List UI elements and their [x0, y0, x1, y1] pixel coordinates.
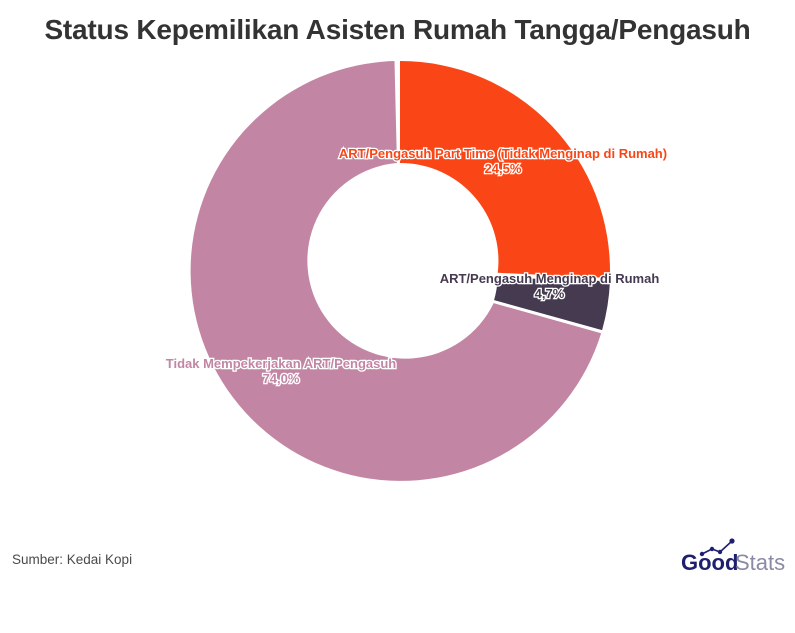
donut-slice-part-time[interactable]	[400, 61, 610, 278]
source-note: Sumber: Kedai Kopi	[12, 552, 132, 567]
goodstats-logo: Good Stats	[660, 520, 795, 590]
goodstats-logo-mark: Good Stats	[660, 520, 795, 590]
donut-chart-svg	[0, 0, 795, 520]
goodstats-logo-stats: Stats	[735, 550, 785, 575]
donut-chart: ART/Pengasuh Part Time (Tidak Menginap d…	[0, 0, 795, 520]
goodstats-logo-good: Good	[681, 550, 738, 575]
